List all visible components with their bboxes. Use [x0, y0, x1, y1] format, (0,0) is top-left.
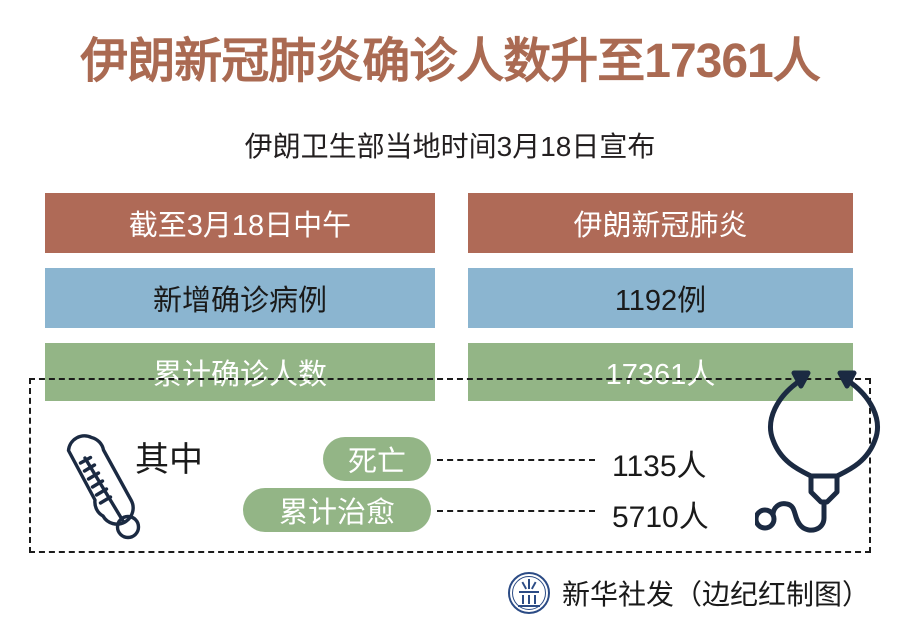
table-cell-label: 截至3月18日中午	[45, 193, 435, 253]
connector-line-recovered	[437, 510, 595, 512]
breakdown-value-recovered: 5710人	[612, 492, 709, 536]
table-cell-value: 伊朗新冠肺炎	[468, 193, 853, 253]
stethoscope-icon	[755, 358, 885, 536]
breakdown-pill-death: 死亡	[323, 437, 431, 481]
breakdown-pill-recovered: 累计治愈	[243, 488, 431, 532]
connector-line-death	[437, 459, 595, 461]
footer: 新华社发（边纪红制图）	[508, 572, 870, 614]
page-title: 伊朗新冠肺炎确诊人数升至17361人	[0, 36, 900, 89]
page-subtitle: 伊朗卫生部当地时间3月18日宣布	[0, 125, 900, 165]
breakdown-intro-label: 其中	[135, 432, 203, 481]
breakdown-value-death: 1135人	[612, 441, 707, 485]
footer-credit: 新华社发（边纪红制图）	[562, 573, 870, 613]
infographic-root: 伊朗新冠肺炎确诊人数升至17361人 伊朗卫生部当地时间3月18日宣布 截至3月…	[0, 0, 900, 635]
xinhua-logo-icon	[508, 572, 550, 614]
table-cell-value: 1192例	[468, 268, 853, 328]
table-cell-label: 新增确诊病例	[45, 268, 435, 328]
